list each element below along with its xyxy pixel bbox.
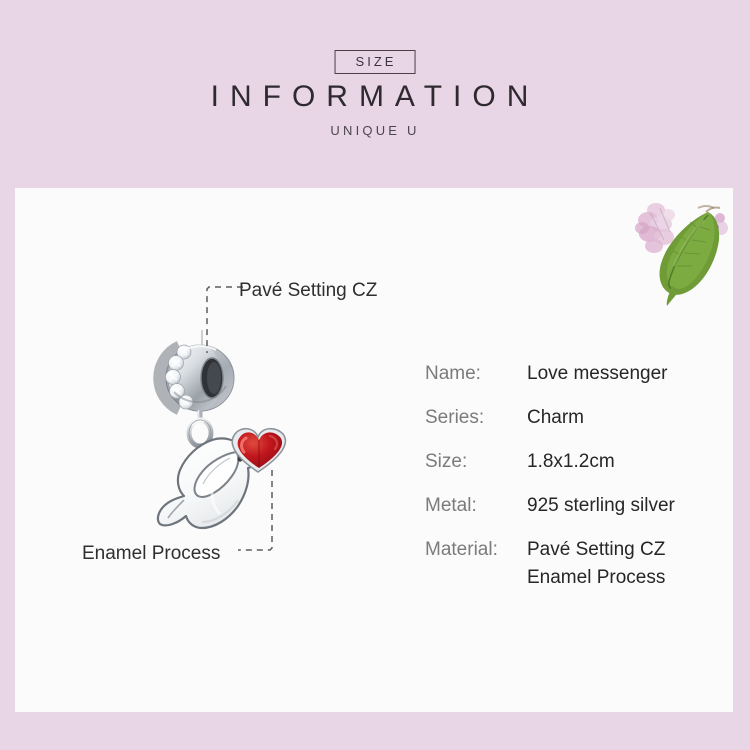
spec-value-material-line1: Pavé Setting CZ — [527, 540, 665, 560]
spec-label-material: Material: — [425, 540, 498, 560]
spec-label-series: Series: — [425, 408, 484, 428]
pave-cz-clip-bail — [161, 345, 234, 411]
spec-label-size: Size: — [425, 452, 467, 472]
spec-label-name: Name: — [425, 364, 481, 384]
product-spec-table: Name: Love messenger Series: Charm Size:… — [425, 364, 725, 584]
page-title: INFORMATION — [211, 80, 540, 115]
table-row: Series: Charm — [425, 408, 725, 452]
size-badge: SIZE — [335, 50, 416, 74]
dove-with-heart-charm — [140, 330, 330, 545]
spec-value-metal: 925 sterling silver — [527, 496, 675, 516]
table-row: Material: Pavé Setting CZ Enamel Process — [425, 540, 725, 584]
spec-label-metal: Metal: — [425, 496, 477, 516]
spec-value-series: Charm — [527, 408, 584, 428]
annotation-label-enamel: Enamel Process — [82, 544, 220, 563]
spec-value-name: Love messenger — [527, 364, 667, 384]
table-row: Name: Love messenger — [425, 364, 725, 408]
spec-value-size: 1.8x1.2cm — [527, 452, 615, 472]
table-row: Size: 1.8x1.2cm — [425, 452, 725, 496]
header: SIZE INFORMATION UNIQUE U — [0, 0, 750, 188]
annotation-label-pave: Pavé Setting CZ — [239, 281, 377, 300]
spec-value-material-line2: Enamel Process — [527, 568, 665, 588]
page-subtitle: UNIQUE U — [330, 124, 419, 137]
table-row: Metal: 925 sterling silver — [425, 496, 725, 540]
